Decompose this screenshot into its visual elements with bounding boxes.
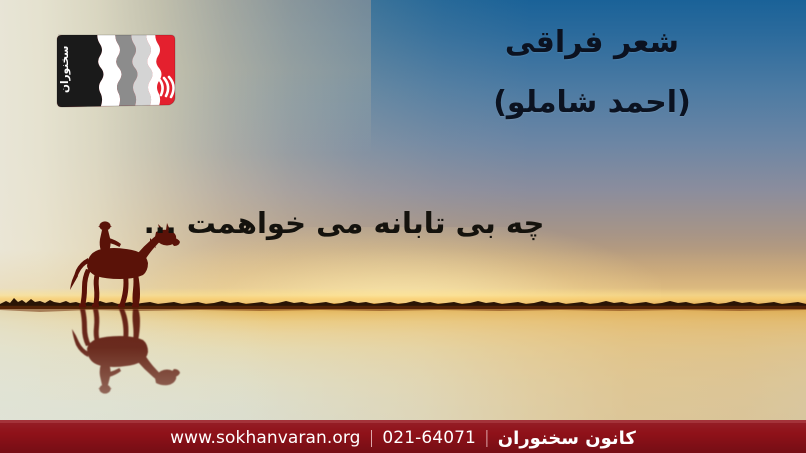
poem-title: شعر فراقی — [422, 24, 762, 62]
title-block: شعر فراقی (احمد شاملو) — [422, 24, 762, 123]
footer-separator-1: | — [369, 428, 375, 448]
footer-website-url[interactable]: www.sokhanvaran.org — [170, 428, 360, 448]
footer-content: www.sokhanvaran.org | 021-64071 | کانون … — [170, 428, 636, 449]
banner-image: سخنوران شعر فراقی (احمد شاملو) چه بی تاب… — [0, 0, 806, 453]
poet-name: (احمد شاملو) — [422, 84, 762, 122]
sokhanvaran-logo[interactable]: سخنوران — [52, 31, 177, 111]
footer-organization-name: کانون سخنوران — [498, 428, 636, 449]
footer-bar: www.sokhanvaran.org | 021-64071 | کانون … — [0, 420, 806, 453]
footer-separator-2: | — [484, 428, 490, 448]
horse-and-rider-reflection-icon — [58, 305, 183, 397]
logo-vertical-text: سخنوران — [59, 46, 71, 93]
poem-first-line: چه بی تابانه می خواهمت ... — [0, 206, 806, 240]
footer-phone-number[interactable]: 021-64071 — [382, 428, 476, 448]
